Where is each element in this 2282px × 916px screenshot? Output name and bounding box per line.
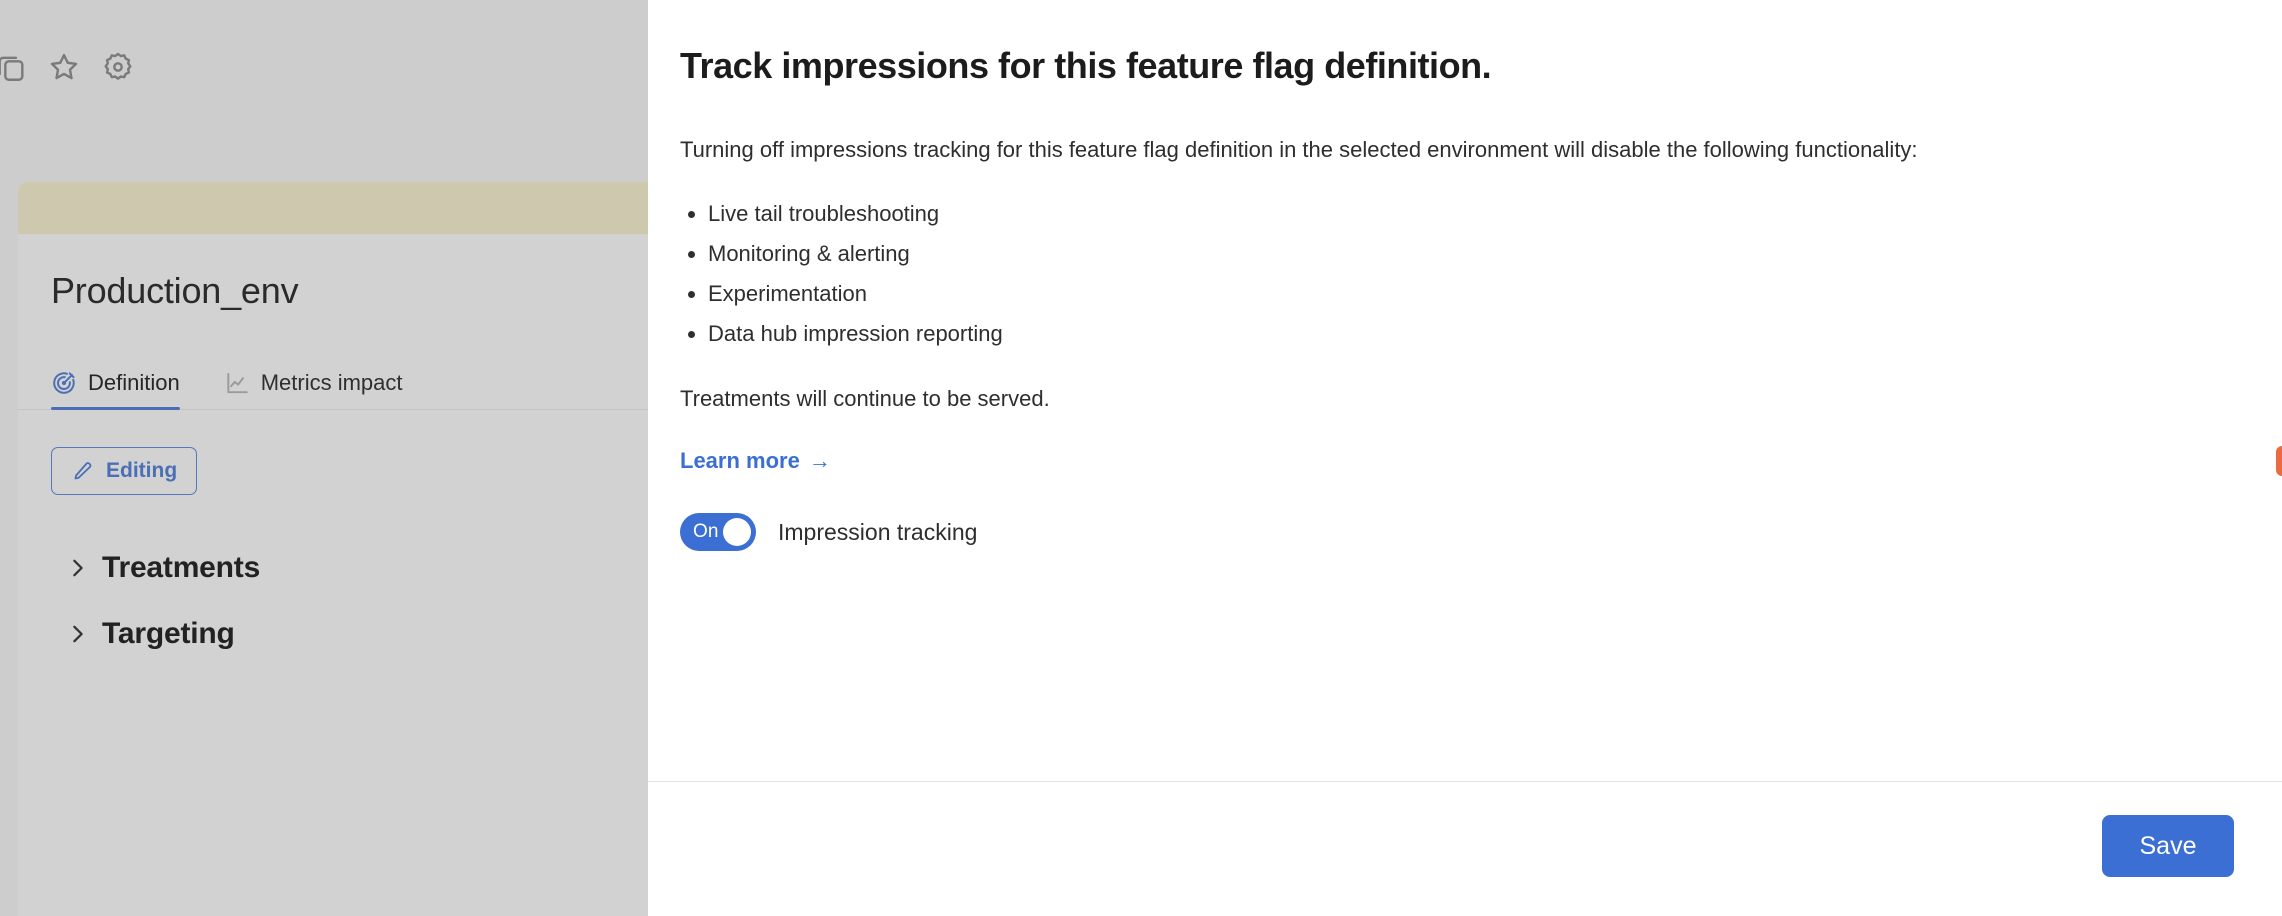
section-targeting[interactable]: Targeting <box>70 614 648 654</box>
disabled-functionality-list: Live tail troubleshooting Monitoring & a… <box>680 194 2226 354</box>
impression-tracking-label: Impression tracking <box>778 519 977 546</box>
panel-description: Turning off impressions tracking for thi… <box>680 132 2180 167</box>
tab-definition-label: Definition <box>88 370 180 396</box>
list-item: Experimentation <box>708 274 2226 314</box>
tab-bar: Definition Metrics impact <box>18 358 648 410</box>
target-pen-icon <box>51 370 77 396</box>
impressions-tracking-panel: Track impressions for this feature flag … <box>648 0 2282 916</box>
toggle-state-label: On <box>693 521 719 543</box>
list-item: Data hub impression reporting <box>708 314 2226 354</box>
card-banner <box>18 182 648 234</box>
list-item: Live tail troubleshooting <box>708 194 2226 234</box>
learn-more-link[interactable]: Learn more → <box>680 448 831 474</box>
save-button[interactable]: Save <box>2102 815 2234 877</box>
tab-metrics-impact[interactable]: Metrics impact <box>224 370 403 409</box>
chevron-right-icon <box>70 622 86 646</box>
page-title: Production_env <box>51 270 648 312</box>
toggle-knob <box>723 518 751 546</box>
tab-definition[interactable]: Definition <box>51 370 180 409</box>
background-environment-card: Production_env Definition <box>18 182 648 916</box>
gear-icon[interactable] <box>101 50 135 84</box>
app-root: Production_env Definition <box>0 0 2282 916</box>
panel-footer: Save <box>648 781 2282 916</box>
arrow-right-icon: → <box>809 448 831 474</box>
line-chart-icon <box>224 370 250 396</box>
learn-more-label: Learn more <box>680 448 800 474</box>
chevron-right-icon <box>70 556 86 580</box>
copy-icon[interactable] <box>0 50 28 84</box>
editing-button-label: Editing <box>106 459 177 483</box>
editing-button[interactable]: Editing <box>51 447 197 495</box>
background-toolbar <box>0 0 648 182</box>
impression-tracking-toggle[interactable]: On <box>680 513 756 551</box>
tab-metrics-impact-label: Metrics impact <box>261 370 403 396</box>
treatments-note: Treatments will continue to be served. <box>680 386 2226 412</box>
section-treatments[interactable]: Treatments <box>70 548 648 588</box>
section-targeting-label: Targeting <box>102 617 235 651</box>
panel-heading: Track impressions for this feature flag … <box>680 43 2226 88</box>
impression-tracking-row: On Impression tracking <box>680 513 2226 551</box>
edge-indicator <box>2276 446 2282 476</box>
star-icon[interactable] <box>47 50 81 84</box>
pencil-icon <box>71 459 95 483</box>
panel-body: Track impressions for this feature flag … <box>648 0 2282 781</box>
section-treatments-label: Treatments <box>102 551 260 585</box>
list-item: Monitoring & alerting <box>708 234 2226 274</box>
